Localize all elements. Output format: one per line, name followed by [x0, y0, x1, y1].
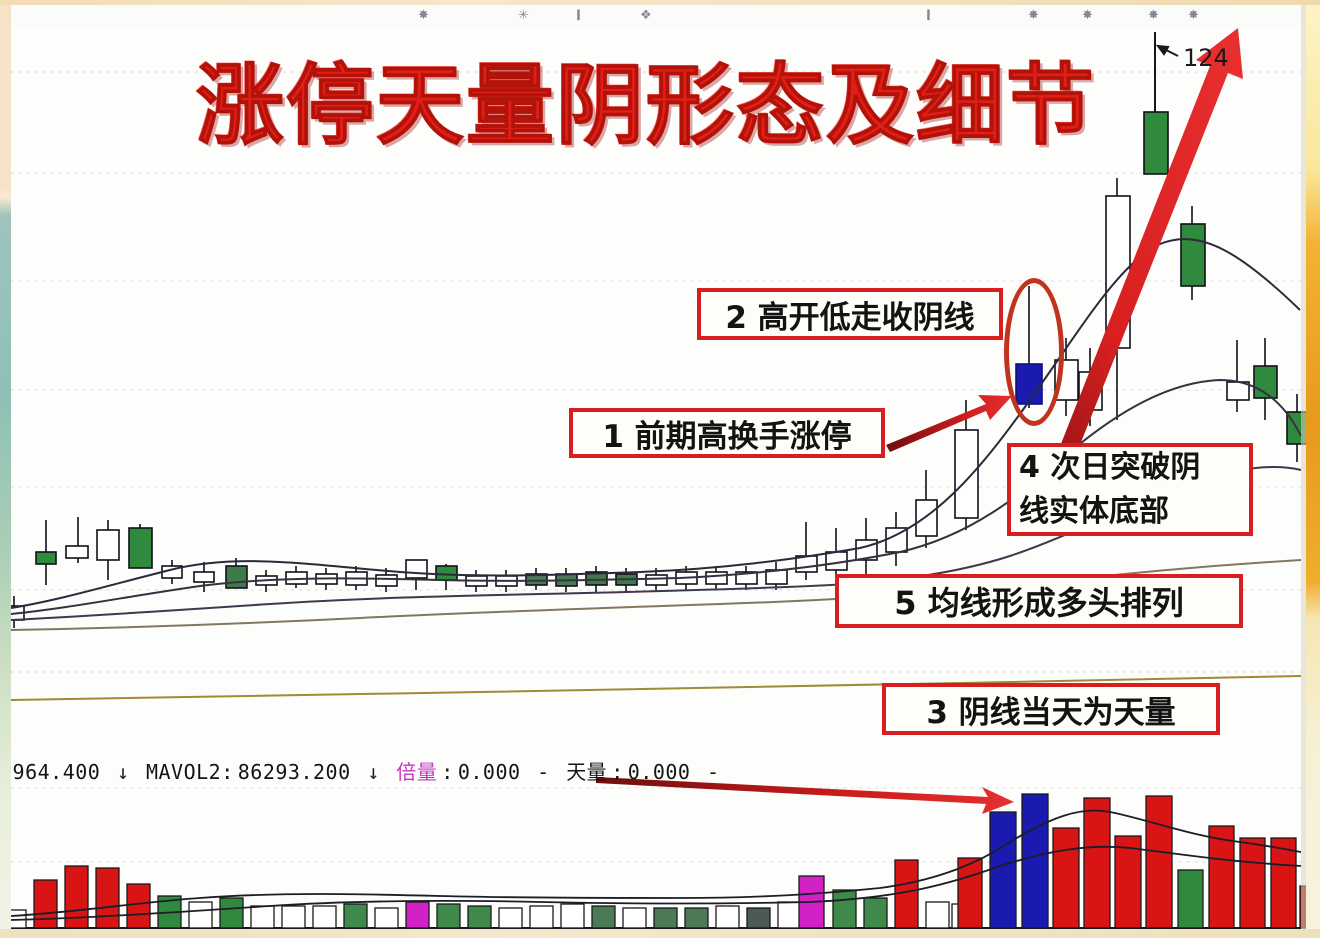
status-tianliang-value: 0.000	[628, 760, 691, 784]
chart-screenshot: 涨停天量阴形态及细节 124 ✸✳█❖█✸✸✸✸ 2 高开低走收阴线 1 前期高…	[0, 0, 1320, 938]
bottom-page-edge	[0, 929, 1320, 938]
bar-icon: █	[927, 9, 929, 23]
page-title: 涨停天量阴形态及细节	[196, 52, 1076, 162]
pointer-arrow-limit-up	[886, 395, 1012, 452]
sparkle-icon: ✸	[418, 9, 429, 23]
status-value: 5964.400	[0, 760, 100, 784]
status-arrow-down-1: ↓	[117, 760, 130, 784]
price-label-arrow	[1158, 46, 1178, 56]
toolbar-artifact-row: ✸✳█❖█✸✸✸✸	[0, 5, 1320, 29]
right-page-edge	[1306, 0, 1320, 938]
annotation-box-3[interactable]: 3 阴线当天为天量	[882, 683, 1220, 735]
starburst3-icon: ✸	[1148, 9, 1159, 23]
status-dash-1: -	[537, 760, 550, 784]
annotation-box-4[interactable]: 4 次日突破阴 线实体底部	[1007, 443, 1253, 536]
annotation-box-4-label-line1: 4 次日突破阴	[1019, 446, 1200, 490]
status-dash-2: -	[707, 760, 720, 784]
status-tianliang-label: 天量	[566, 760, 607, 784]
left-page-edge	[0, 0, 11, 938]
price-axis-label: 124	[1183, 44, 1229, 72]
diamond-icon: ❖	[640, 9, 652, 23]
status-arrow-down-2: ↓	[367, 760, 380, 784]
annotation-box-1[interactable]: 1 前期高换手涨停	[569, 408, 885, 458]
annotation-box-2[interactable]: 2 高开低走收阴线	[697, 288, 1003, 340]
status-beiliang-value: 0.000	[458, 760, 521, 784]
status-mavol2-label: MAVOL2:	[146, 760, 234, 784]
right-inner-divider	[1301, 0, 1306, 938]
annotation-box-2-label: 2 高开低走收阴线	[725, 292, 974, 337]
asterisk-icon: ✳	[518, 9, 529, 23]
vertical-bar-icon: █	[577, 9, 579, 23]
annotation-box-5[interactable]: 5 均线形成多头排列	[835, 574, 1243, 628]
top-page-edge	[0, 0, 1320, 5]
annotation-box-4-label-line2: 线实体底部	[1019, 490, 1169, 534]
starburst2-icon: ✸	[1082, 9, 1093, 23]
annotation-box-1-label: 1 前期高换手涨停	[602, 411, 851, 456]
annotation-box-5-label: 5 均线形成多头排列	[894, 578, 1183, 624]
starburst-icon: ✸	[1028, 9, 1039, 23]
annotation-box-3-label: 3 阴线当天为天量	[926, 687, 1175, 732]
status-bar: 5964.400 ↓ MAVOL2:86293.200 ↓ 倍量:0.000 -…	[0, 757, 1290, 787]
status-mavol2-value: 86293.200	[238, 760, 351, 784]
highlight-ellipse-bearish-candle	[1004, 278, 1064, 426]
status-beiliang-label: 倍量	[396, 760, 437, 784]
starburst4-icon: ✸	[1188, 9, 1199, 23]
